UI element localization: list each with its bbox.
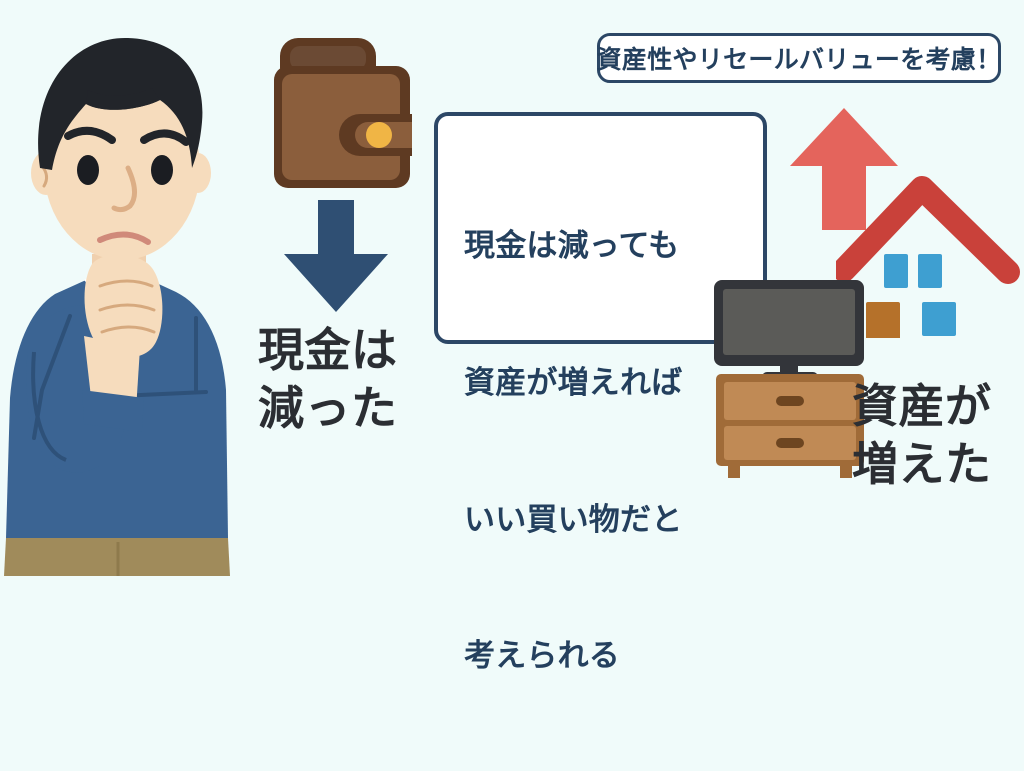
top-callout-box: 資産性やリセールバリューを考慮！ <box>597 33 1001 83</box>
asset-label-line-2: 増えた <box>852 436 1022 494</box>
bubble-line-3: いい買い物だと <box>464 498 682 544</box>
television-icon <box>712 278 866 382</box>
thinking-man-illustration <box>0 18 250 576</box>
wallet-icon <box>268 28 416 198</box>
infographic-canvas: 現金は 減った 現金は減っても 資産が増えれば いい買い物だと 考えられる 資産… <box>0 0 1024 576</box>
down-arrow-icon <box>276 196 396 318</box>
main-speech-bubble-text: 現金は減っても 資産が増えれば いい買い物だと 考えられる <box>464 133 682 771</box>
tv-stand-icon <box>714 372 866 478</box>
cash-label-line-1: 現金は <box>258 322 438 380</box>
cash-label-line-2: 減った <box>258 380 438 438</box>
bubble-line-1: 現金は減っても <box>464 224 682 270</box>
asset-increased-label: 資産が 増えた <box>852 378 1022 494</box>
top-callout-text: 資産性やリセールバリューを考慮！ <box>597 40 1002 76</box>
bubble-line-4: 考えられる <box>464 634 682 680</box>
asset-label-line-1: 資産が <box>852 378 1022 436</box>
cash-decreased-label: 現金は 減った <box>258 322 438 438</box>
bubble-line-2: 資産が増えれば <box>464 361 682 407</box>
